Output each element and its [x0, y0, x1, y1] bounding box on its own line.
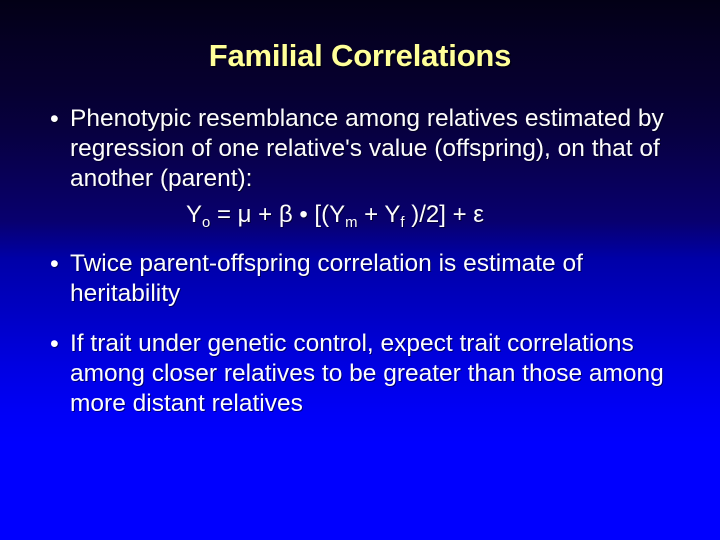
equation-part-y: Y	[186, 201, 202, 228]
bullet-point-icon: •	[44, 329, 70, 359]
list-item-label: Phenotypic resemblance among relatives e…	[70, 104, 676, 194]
equation-subscript-o: o	[202, 215, 210, 231]
page-title: Familial Correlations	[0, 38, 720, 74]
list-item: • Phenotypic resemblance among relatives…	[44, 104, 676, 194]
list-item-label: Twice parent-offspring correlation is es…	[70, 249, 676, 309]
list-item: • If trait under genetic control, expect…	[44, 329, 676, 419]
bullet-point-icon: •	[44, 249, 70, 279]
equation-formula: Yo = μ + β • [(Ym + Yf )/2] + ε	[44, 200, 676, 233]
equation-part-plus-y: + Y	[357, 201, 400, 228]
equation-part-tail: )/2] + ε	[405, 201, 484, 228]
bullet-list: • Phenotypic resemblance among relatives…	[44, 104, 676, 419]
equation-part-mu-beta: = μ + β • [(Y	[210, 201, 345, 228]
list-item-label: If trait under genetic control, expect t…	[70, 329, 676, 419]
equation-subscript-f: f	[400, 215, 404, 231]
list-item: • Twice parent-offspring correlation is …	[44, 249, 676, 309]
equation-subscript-m: m	[345, 215, 357, 231]
bullet-point-icon: •	[44, 104, 70, 134]
slide-canvas: Familial Correlations • Phenotypic resem…	[0, 0, 720, 540]
